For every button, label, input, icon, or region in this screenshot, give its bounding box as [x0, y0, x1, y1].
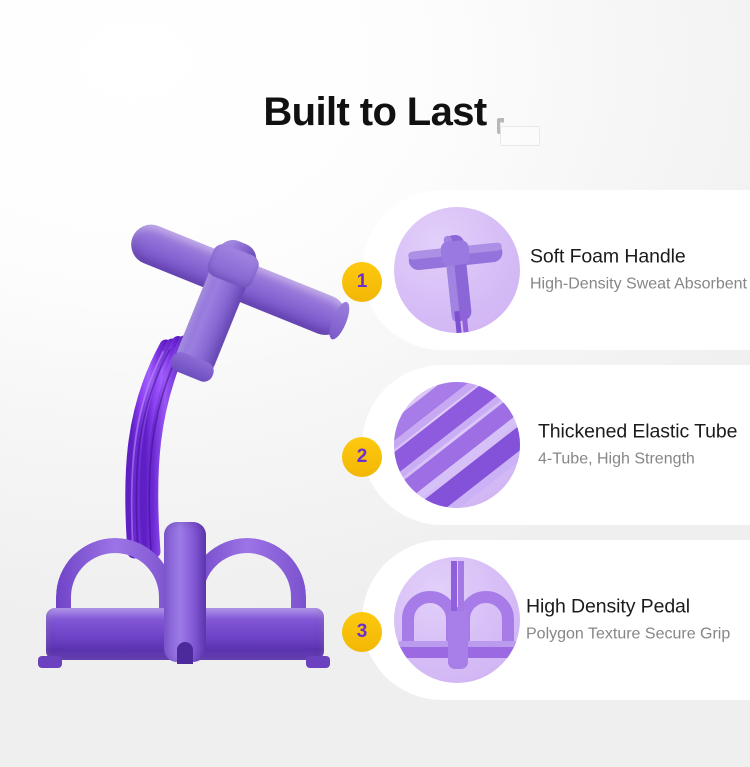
- feature-badge-1: 1: [342, 262, 382, 302]
- pedal-foot-right: [306, 656, 330, 668]
- pedal-thumb-icon: [394, 557, 520, 683]
- watermark-artifact: [500, 126, 540, 146]
- feature-badge-3: 3: [342, 612, 382, 652]
- feature-subtitle-3: Polygon Texture Secure Grip: [526, 624, 750, 644]
- feature-card-2[interactable]: 2 Thickened Elastic Tube 4-Tube, High St…: [362, 365, 750, 525]
- product-illustration: [20, 170, 380, 700]
- feature-subtitle-1: High-Density Sweat Absorbent: [530, 274, 750, 294]
- foam-handle-thumb-icon: [394, 207, 520, 333]
- feature-badge-2: 2: [342, 437, 382, 477]
- pedal-base: [38, 538, 328, 678]
- feature-subtitle-2: 4-Tube, High Strength: [538, 449, 750, 469]
- feature-text-3: High Density Pedal Polygon Texture Secur…: [526, 595, 750, 644]
- feature-title-1: Soft Foam Handle: [530, 245, 750, 269]
- infographic-page: Built to Last: [0, 0, 750, 767]
- feature-text-2: Thickened Elastic Tube 4-Tube, High Stre…: [538, 420, 750, 469]
- feature-card-3[interactable]: 3 High Density Pedal Polygon Texture Sec…: [362, 540, 750, 700]
- feature-card-1[interactable]: 1 Soft Foam Handle High-Density Sweat Ab…: [362, 190, 750, 350]
- feature-title-2: Thickened Elastic Tube: [538, 420, 750, 444]
- pedal-center-post: [164, 522, 206, 662]
- feature-text-1: Soft Foam Handle High-Density Sweat Abso…: [530, 245, 750, 294]
- pedal-foot-left: [38, 656, 62, 668]
- page-title: Built to Last: [0, 90, 750, 135]
- feature-title-3: High Density Pedal: [526, 595, 750, 619]
- elastic-tube-thumb-icon: [394, 382, 520, 508]
